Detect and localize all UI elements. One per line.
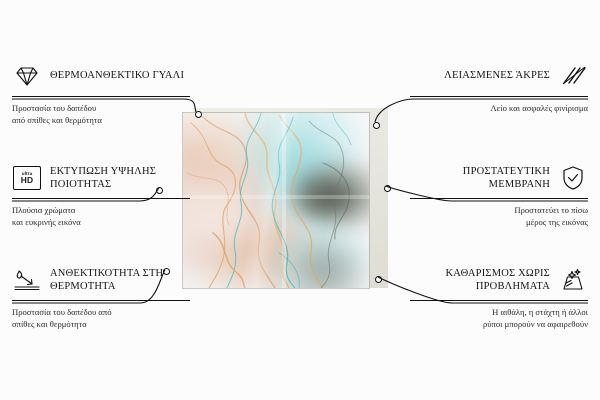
shield-check-icon <box>558 164 588 192</box>
feature-block-high-quality-print: ultra HD ΕΚΤΥΠΩΣΗ ΥΨΗΛΗΣ ΠΟΙΟΤΗΤΑΣ Πλούσ… <box>12 164 190 228</box>
feature-description: Λείο και ασφαλές φινίρισμα <box>410 102 588 114</box>
diamond-icon <box>12 62 42 90</box>
feature-block-easy-cleaning: ΚΑΘΑΡΙΣΜΟΣ ΧΩΡΙΣ ΠΡΟΒΛΗΜΑΤΑ Η αιθάλη, η … <box>410 266 588 330</box>
reflection-mullion-vertical <box>282 113 286 288</box>
divider <box>410 96 588 97</box>
hotspot-marker <box>195 111 202 118</box>
product-image <box>183 113 383 288</box>
feature-title: ΑΝΘΕΚΤΙΚΟΤΗΤΑ ΣΤΗ ΘΕΡΜΟΤΗΤΑ <box>50 267 190 294</box>
divider <box>12 300 190 301</box>
hotspot-marker <box>384 185 391 192</box>
divider <box>410 300 588 301</box>
feature-title: ΛΕΙΑΣΜΕΝΕΣ ΆΚΡΕΣ <box>444 69 550 82</box>
feature-title: ΕΚΤΥΠΩΣΗ ΥΨΗΛΗΣ ΠΟΙΟΤΗΤΑΣ <box>50 165 190 192</box>
ink-veins <box>183 113 369 288</box>
easy-cleaning-icon <box>558 266 588 294</box>
ultra-hd-icon: ultra HD <box>12 164 42 192</box>
feature-header: ΑΝΘΕΚΤΙΚΟΤΗΤΑ ΣΤΗ ΘΕΡΜΟΤΗΤΑ <box>12 266 190 294</box>
desc-line: από σπίθες και θερμότητα <box>12 114 190 126</box>
divider <box>12 198 190 199</box>
feature-block-thermal-glass: ΘΕΡΜΟΑΝΘΕΚΤΙΚΟ ΓΥΑΛΙ Προστασία του δαπέδ… <box>12 62 190 126</box>
desc-line: σπίθες και θερμότητα <box>12 318 190 330</box>
divider <box>410 198 588 199</box>
heat-resistance-icon <box>12 266 42 294</box>
feature-block-polished-edges: ΛΕΙΑΣΜΕΝΕΣ ΆΚΡΕΣ Λείο και ασφαλές φινίρι… <box>410 62 588 114</box>
feature-description: Πλούσια χρώματα και ευκρινής εικόνα <box>12 204 190 228</box>
desc-line: και ευκρινής εικόνα <box>12 216 190 228</box>
hd-label: HD <box>21 176 34 184</box>
desc-line: Πλούσια χρώματα <box>12 204 190 216</box>
feature-header: ΠΡΟΣΤΑΤΕΥΤΙΚΗ ΜΕΜΒΡΑΝΗ <box>410 164 588 192</box>
feature-block-protective-membrane: ΠΡΟΣΤΑΤΕΥΤΙΚΗ ΜΕΜΒΡΑΝΗ Προστατεύει το πί… <box>410 164 588 228</box>
desc-line: ρύποι μπορούν να αφαιρεθούν <box>410 318 588 330</box>
desc-line: Προστατεύει το πίσω <box>410 204 588 216</box>
feature-title: ΚΑΘΑΡΙΣΜΟΣ ΧΩΡΙΣ ΠΡΟΒΛΗΜΑΤΑ <box>410 267 550 294</box>
infographic-sheet: ΘΕΡΜΟΑΝΘΕΚΤΙΚΟ ΓΥΑΛΙ Προστασία του δαπέδ… <box>0 0 600 400</box>
feature-description: Προστασία του δαπέδου από σπίθες και θερ… <box>12 102 190 126</box>
desc-line: Η αιθάλη, η στάχτη ή άλλοι <box>410 306 588 318</box>
hotspot-marker <box>373 122 380 129</box>
feature-description: Η αιθάλη, η στάχτη ή άλλοι ρύποι μπορούν… <box>410 306 588 330</box>
hotspot-marker <box>375 276 382 283</box>
feature-block-heat-resistance: ΑΝΘΕΚΤΙΚΟΤΗΤΑ ΣΤΗ ΘΕΡΜΟΤΗΤΑ Προστασία το… <box>12 266 190 330</box>
desc-line: Προστασία του δαπέδου από <box>12 306 190 318</box>
feature-description: Προστατεύει το πίσω μέρος της εικόνας <box>410 204 588 228</box>
feature-title: ΠΡΟΣΤΑΤΕΥΤΙΚΗ ΜΕΜΒΡΑΝΗ <box>410 165 550 192</box>
desc-line: Λείο και ασφαλές φινίρισμα <box>410 102 588 114</box>
desc-line: μέρος της εικόνας <box>410 216 588 228</box>
feature-header: ΚΑΘΑΡΙΣΜΟΣ ΧΩΡΙΣ ΠΡΟΒΛΗΜΑΤΑ <box>410 266 588 294</box>
glass-panel <box>183 113 369 288</box>
feature-description: Προστασία του δαπέδου από σπίθες και θερ… <box>12 306 190 330</box>
feature-header: ΛΕΙΑΣΜΕΝΕΣ ΆΚΡΕΣ <box>410 62 588 90</box>
feature-header: ultra HD ΕΚΤΥΠΩΣΗ ΥΨΗΛΗΣ ΠΟΙΟΤΗΤΑΣ <box>12 164 190 192</box>
polished-edges-icon <box>558 62 588 90</box>
reflection-mullion-horizontal <box>183 195 369 199</box>
desc-line: Προστασία του δαπέδου <box>12 102 190 114</box>
feature-title: ΘΕΡΜΟΑΝΘΕΚΤΙΚΟ ΓΥΑΛΙ <box>50 69 184 82</box>
divider <box>12 96 190 97</box>
feature-header: ΘΕΡΜΟΑΝΘΕΚΤΙΚΟ ΓΥΑΛΙ <box>12 62 190 90</box>
